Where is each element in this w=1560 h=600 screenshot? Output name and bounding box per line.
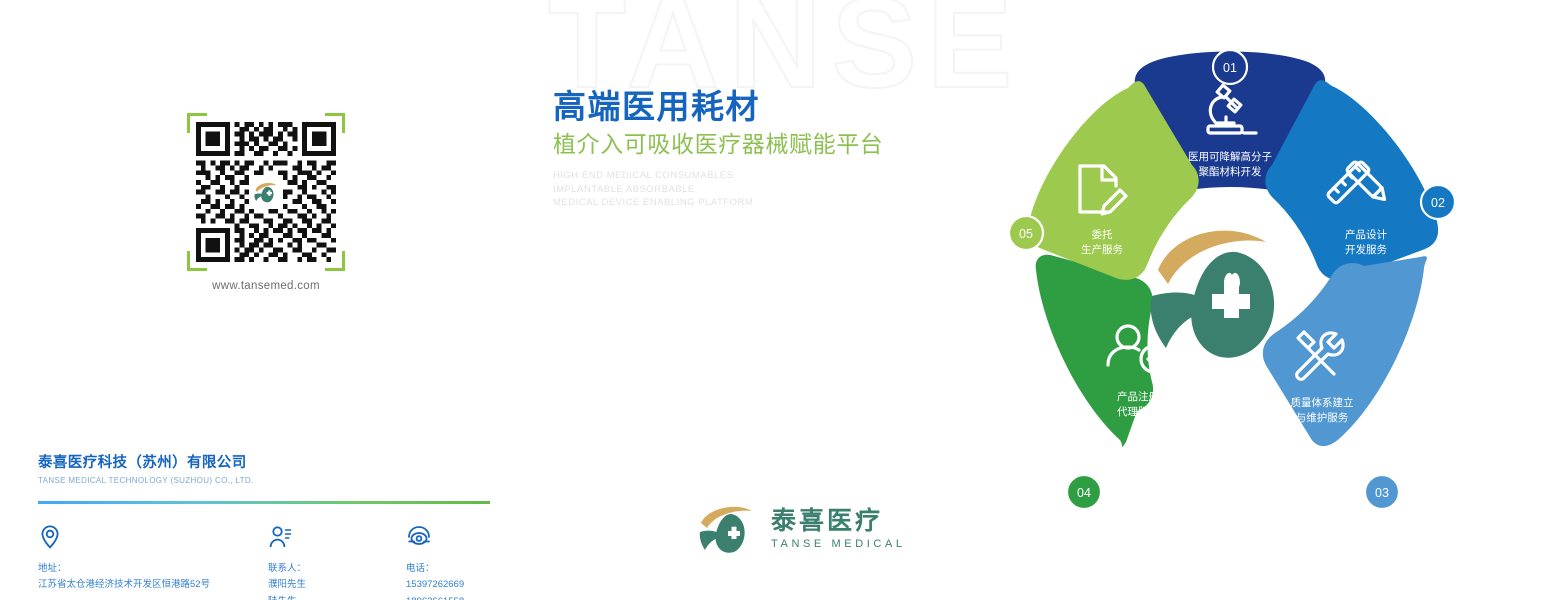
person-value: 濮阳先生 — [268, 577, 406, 594]
telephone-icon — [406, 524, 464, 550]
qr-code-block: www.tansemed.com — [186, 122, 346, 292]
address-label: 地址： — [38, 561, 268, 578]
person-value: 陆先生 — [268, 594, 406, 600]
petal-03[interactable]: 质量体系建立 与维护服务 03 — [1263, 256, 1427, 509]
contact-person-icon — [268, 524, 406, 550]
contact-column-address: 地址： 江苏省太仓港经济技术开发区恒港路52号 — [38, 524, 268, 600]
center-leaf-logo-icon — [1151, 231, 1274, 358]
headline-block: 高端医用耗材 植介入可吸收医疗器械赋能平台 HIGH END MEDICAL C… — [553, 86, 883, 210]
english-subtitle-line: MEDICAL DEVICE ENABLING PLATFORM — [553, 196, 883, 209]
contact-block: 泰喜医疗科技（苏州）有限公司 TANSE MEDICAL TECHNOLOGY … — [38, 451, 488, 600]
petal-04-label-line2: 代理服务 — [1117, 405, 1159, 418]
phone-value: 15397262669 — [406, 577, 464, 594]
petal-01-label-line1: 医用可降解高分子 — [1188, 150, 1272, 163]
petal-05-label-line2: 生产服务 — [1081, 243, 1123, 256]
divider — [38, 501, 490, 504]
petal-01-label-line2: 聚酯材料开发 — [1199, 165, 1262, 178]
petal-02-label-line2: 开发服务 — [1345, 243, 1387, 256]
english-subtitle-group: HIGH END MEDICAL CONSUMABLES IMPLANTABLE… — [553, 169, 883, 209]
phone-label: 电话： — [406, 561, 464, 578]
person-label: 联系人： — [268, 561, 406, 578]
petal-04[interactable]: 产品注册 代理服务 04 — [1036, 255, 1167, 509]
contact-column-phone: 电话： 15397262669 18962661558 — [406, 524, 464, 600]
company-name-en: TANSE MEDICAL TECHNOLOGY (SUZHOU) CO., L… — [38, 476, 488, 485]
petal-04-badge: 04 — [1077, 486, 1091, 500]
qr-frame — [196, 122, 336, 262]
brand-name-en: TANSE MEDICAL — [771, 539, 906, 550]
petal-03-label-line2: 与维护服务 — [1296, 411, 1349, 424]
qr-url-caption: www.tansemed.com — [186, 280, 346, 292]
location-pin-icon — [38, 524, 268, 550]
page-subtitle: 植介入可吸收医疗器械赋能平台 — [553, 130, 883, 160]
petal-02-badge: 02 — [1431, 196, 1445, 210]
brand-text-block: 泰喜医疗 TANSE MEDICAL — [771, 509, 906, 550]
petal-01-badge: 01 — [1223, 61, 1237, 75]
petal-04-label-line1: 产品注册 — [1117, 390, 1159, 403]
petal-02-label-line1: 产品设计 — [1345, 228, 1387, 241]
address-value: 江苏省太仓港经济技术开发区恒港路52号 — [38, 577, 268, 594]
petal-03-badge: 03 — [1375, 486, 1389, 500]
petal-diagram: 医用可降解高分子 聚酯材料开发 01 产品设计 开发服务 02 — [930, 10, 1530, 590]
contact-column-person: 联系人： 濮阳先生 陆先生 — [268, 524, 406, 600]
page-title: 高端医用耗材 — [553, 86, 883, 127]
brand-logo: 泰喜医疗 TANSE MEDICAL — [698, 500, 906, 558]
company-name-cn: 泰喜医疗科技（苏州）有限公司 — [38, 451, 488, 472]
petal-05-label-line1: 委托 — [1092, 228, 1114, 241]
brand-name-cn: 泰喜医疗 — [771, 509, 906, 534]
english-subtitle-line: HIGH END MEDICAL CONSUMABLES — [553, 169, 883, 182]
phone-value: 18962661558 — [406, 594, 464, 600]
petal-05-badge: 05 — [1019, 227, 1033, 241]
tanse-leaf-logo-icon — [698, 500, 760, 558]
contact-columns: 地址： 江苏省太仓港经济技术开发区恒港路52号 联系人： 濮阳先生 陆先生 — [38, 524, 488, 600]
english-subtitle-line: IMPLANTABLE ABSORBABLE — [553, 183, 883, 196]
qr-center-logo-icon — [249, 175, 283, 209]
petal-03-label-line1: 质量体系建立 — [1291, 396, 1354, 409]
